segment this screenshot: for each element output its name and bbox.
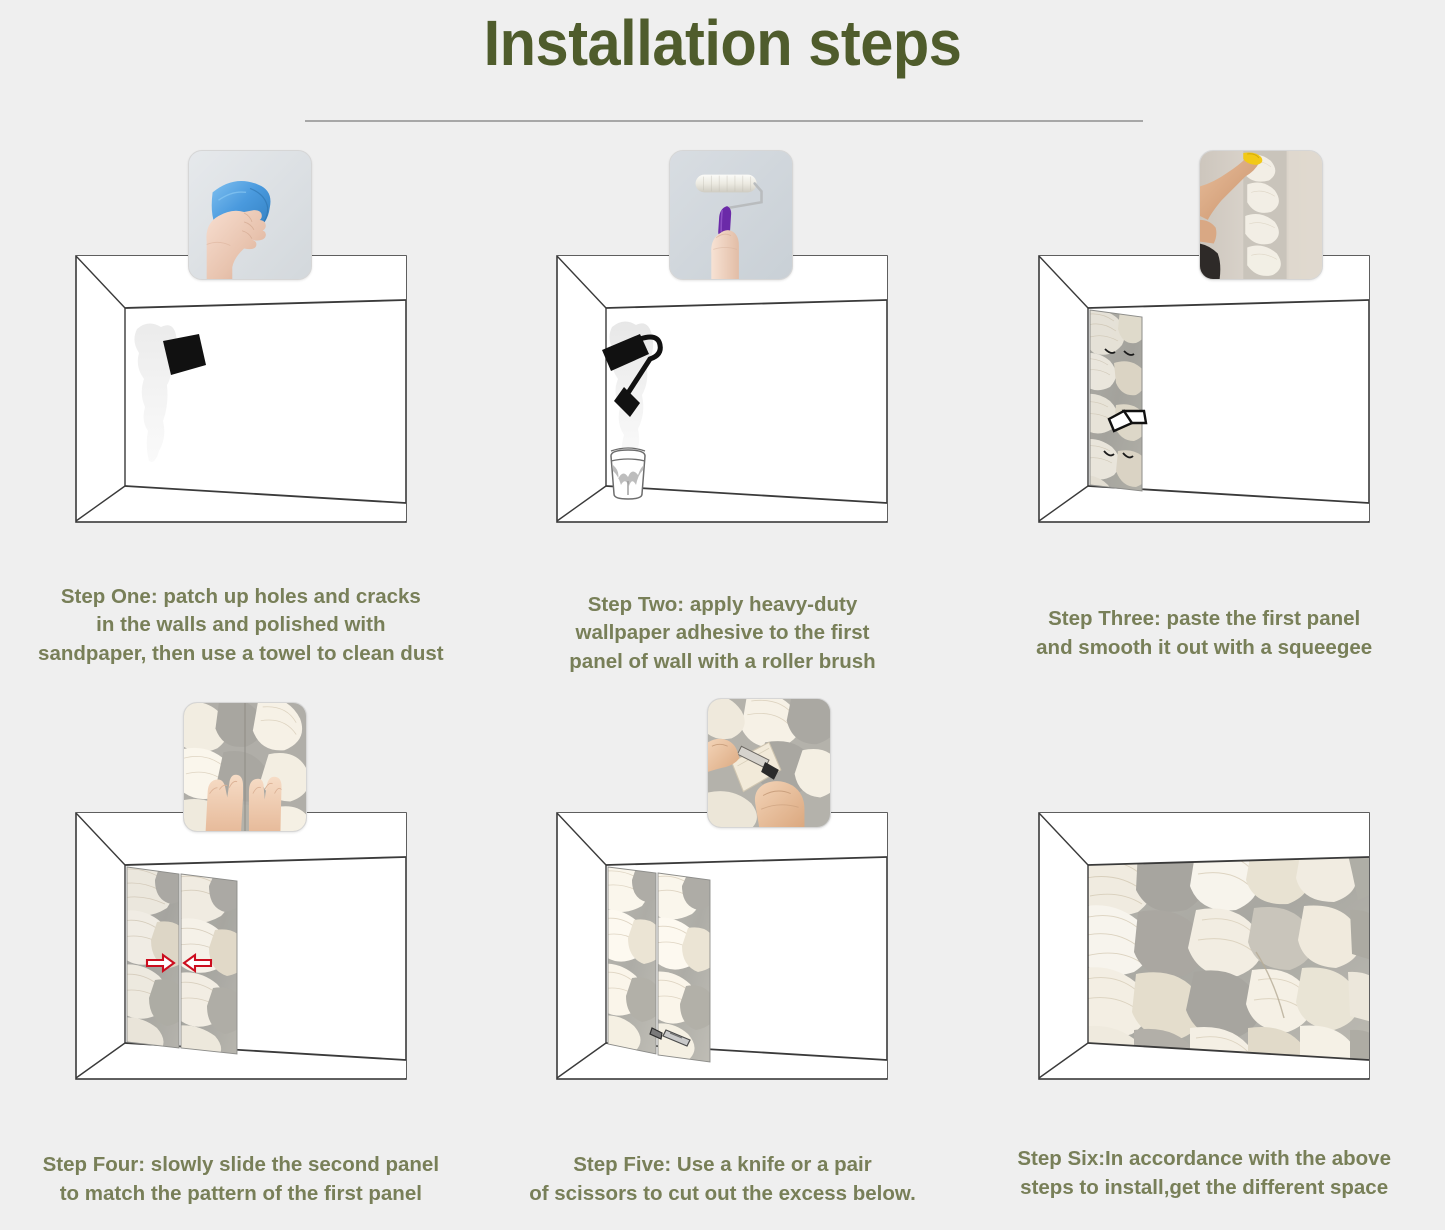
step-card-six: Step Six:In accordance with the above st… — [963, 690, 1445, 1230]
step-caption-five: Step Five: Use a knife or a pair of scis… — [482, 1151, 964, 1208]
step-caption-four: Step Four: slowly slide the second panel… — [0, 1151, 482, 1208]
room-illustration — [1038, 255, 1370, 523]
page-title: Installation steps — [51, 0, 1395, 78]
steps-grid: Step One: patch up holes and cracks in t… — [0, 150, 1445, 1230]
room-diagram-two — [556, 255, 888, 523]
hands-cutting-wallpaper-photo — [708, 699, 830, 827]
step-card-two: Step Two: apply heavy-duty wallpaper adh… — [482, 150, 964, 690]
step-card-four: Step Four: slowly slide the second panel… — [0, 690, 482, 1230]
step-card-five: Step Five: Use a knife or a pair of scis… — [482, 690, 964, 1230]
step-card-three: Step Three: paste the first panel and sm… — [963, 150, 1445, 690]
room-diagram-three — [1038, 255, 1370, 523]
hand-holding-paint-roller-photo — [670, 151, 792, 279]
room-diagram-five — [556, 812, 888, 1080]
person-smoothing-wallpaper-photo — [1200, 151, 1322, 279]
step-caption-one: Step One: patch up holes and cracks in t… — [0, 583, 482, 668]
hand-wiping-wall-with-blue-towel-photo — [189, 151, 311, 279]
step-caption-two: Step Two: apply heavy-duty wallpaper adh… — [482, 591, 964, 676]
glue-bucket-icon — [611, 448, 645, 499]
room-diagram-four — [75, 812, 407, 1080]
photo-inset-step-four — [183, 702, 307, 832]
room-illustration — [75, 255, 407, 523]
step-caption-six: Step Six:In accordance with the above st… — [963, 1145, 1445, 1202]
photo-inset-step-five — [707, 698, 831, 828]
photo-inset-step-three — [1199, 150, 1323, 280]
step-card-one: Step One: patch up holes and cracks in t… — [0, 150, 482, 690]
hands-matching-wallpaper-seam-photo — [184, 703, 306, 831]
room-diagram-one — [75, 255, 407, 523]
room-illustration — [556, 255, 888, 523]
room-diagram-six — [1038, 812, 1370, 1080]
photo-inset-step-two — [669, 150, 793, 280]
wallpaper-full-wall — [1071, 843, 1370, 1078]
room-illustration — [1038, 812, 1370, 1080]
room-illustration — [75, 812, 407, 1080]
title-divider — [305, 120, 1143, 122]
photo-inset-step-one — [188, 150, 312, 280]
step-caption-three: Step Three: paste the first panel and sm… — [963, 605, 1445, 662]
room-illustration — [556, 812, 888, 1080]
